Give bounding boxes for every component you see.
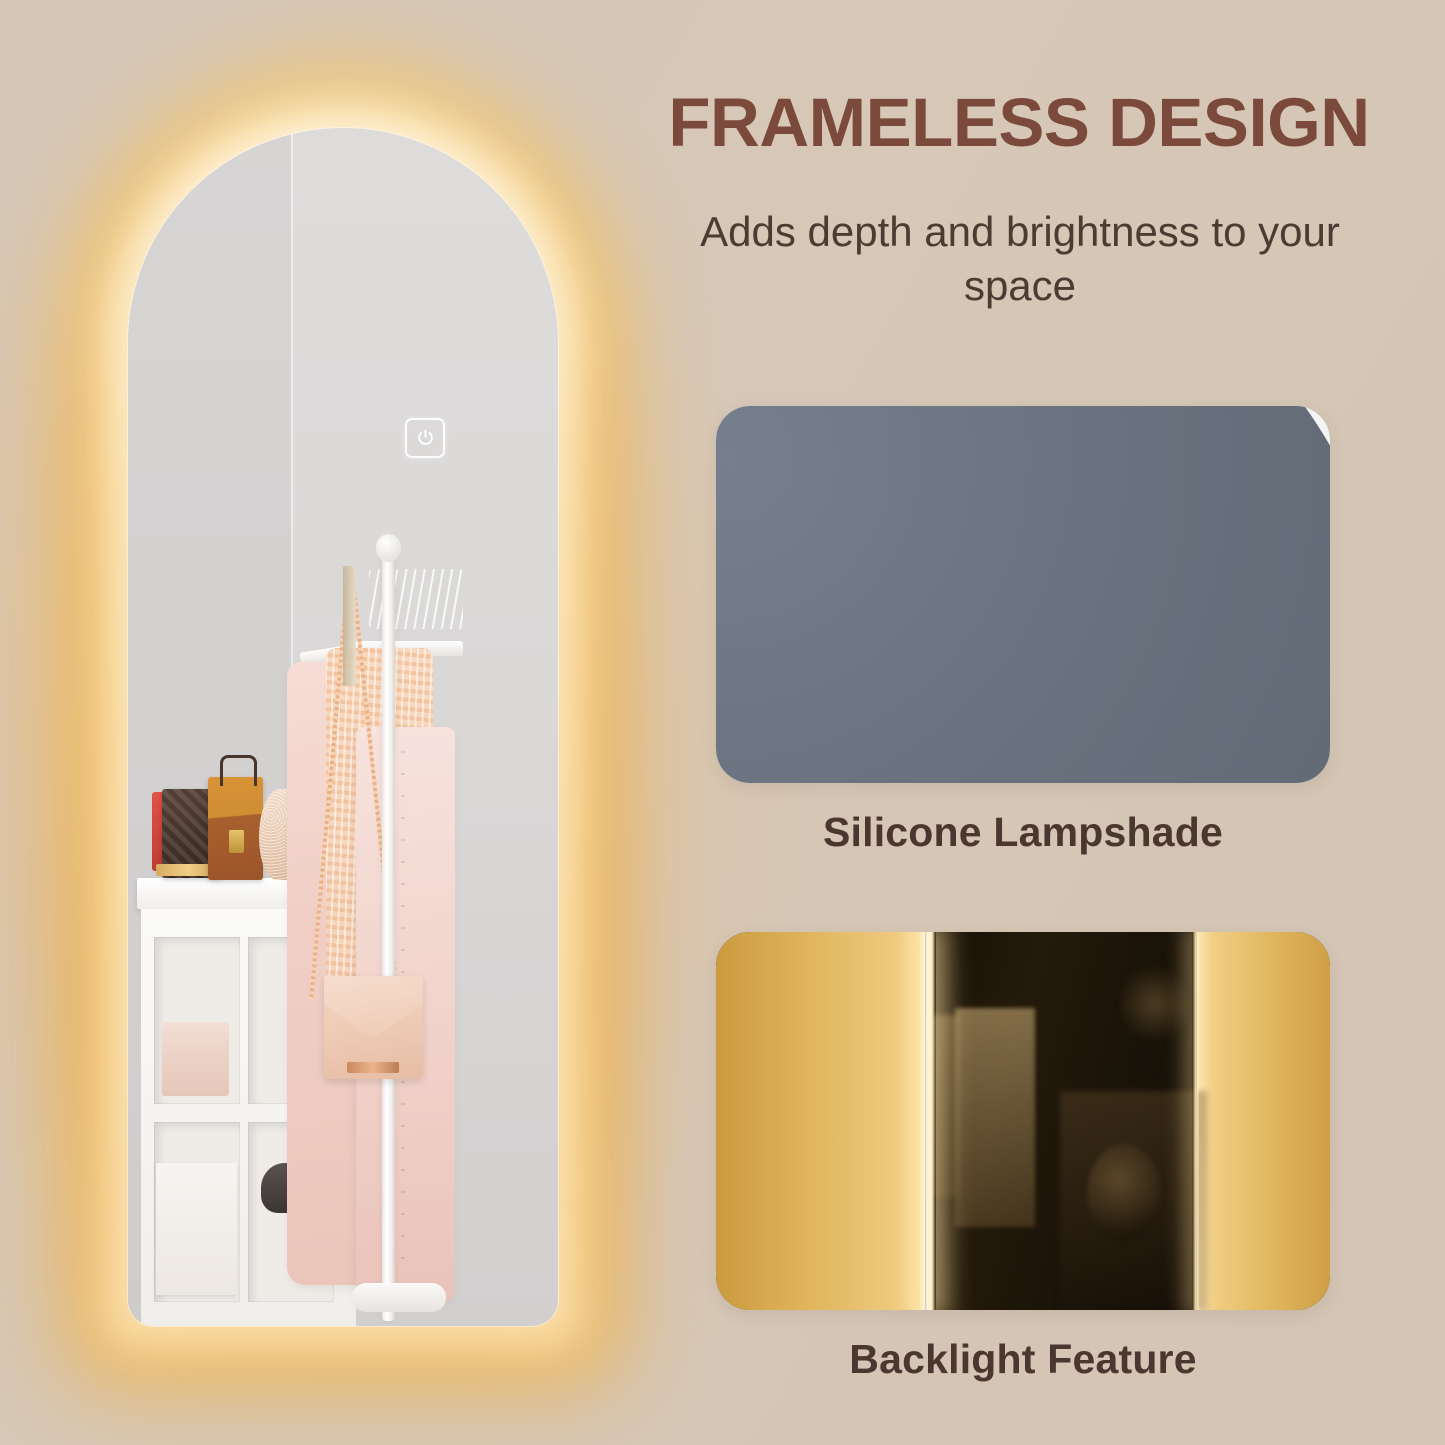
backlight-feature-photo xyxy=(716,932,1330,1310)
product-feature-banner: FRAMELESS DESIGN Adds depth and brightne… xyxy=(0,0,1445,1445)
backlight-wall-glow-left xyxy=(716,932,925,1310)
reflected-storage-bin xyxy=(156,1163,238,1295)
power-touch-button[interactable] xyxy=(405,418,445,458)
reflected-briefcase-handle xyxy=(220,755,256,787)
backlight-reflection-circle xyxy=(1121,962,1189,1045)
feature-caption: Silicone Lampshade xyxy=(716,809,1330,856)
backlight-reflection-drum xyxy=(1087,1144,1161,1242)
mirror-glass-surface xyxy=(128,128,558,1326)
backlight-reflection-door xyxy=(955,1008,1035,1227)
reflected-rack-knob xyxy=(376,534,402,562)
power-icon xyxy=(416,428,435,447)
reflected-briefcase-lock xyxy=(229,830,244,853)
lampshade-highlight xyxy=(716,406,1330,783)
reflected-rack-base xyxy=(352,1283,447,1312)
reflected-folded-towels xyxy=(162,1022,229,1096)
backlight-led-strip-left xyxy=(920,932,936,1310)
reflected-room-scene xyxy=(128,128,558,1326)
reflected-rack-rod xyxy=(343,566,356,686)
backlight-led-strip-right xyxy=(1192,932,1199,1310)
led-arch-mirror xyxy=(128,128,558,1326)
backlight-wall-glow-right xyxy=(1195,932,1330,1310)
reflected-rack-pole xyxy=(382,554,396,1321)
page-title: FRAMELESS DESIGN xyxy=(600,88,1438,157)
reflected-clutch-trim xyxy=(347,1062,399,1072)
feature-card-silicone-lampshade: Silicone Lampshade xyxy=(716,406,1330,856)
page-subtitle: Adds depth and brightness to your space xyxy=(640,205,1400,313)
silicone-lampshade-photo xyxy=(716,406,1330,783)
feature-card-backlight: Backlight Feature xyxy=(716,932,1330,1383)
feature-caption: Backlight Feature xyxy=(716,1336,1330,1383)
reflected-tan-briefcase xyxy=(208,777,264,880)
